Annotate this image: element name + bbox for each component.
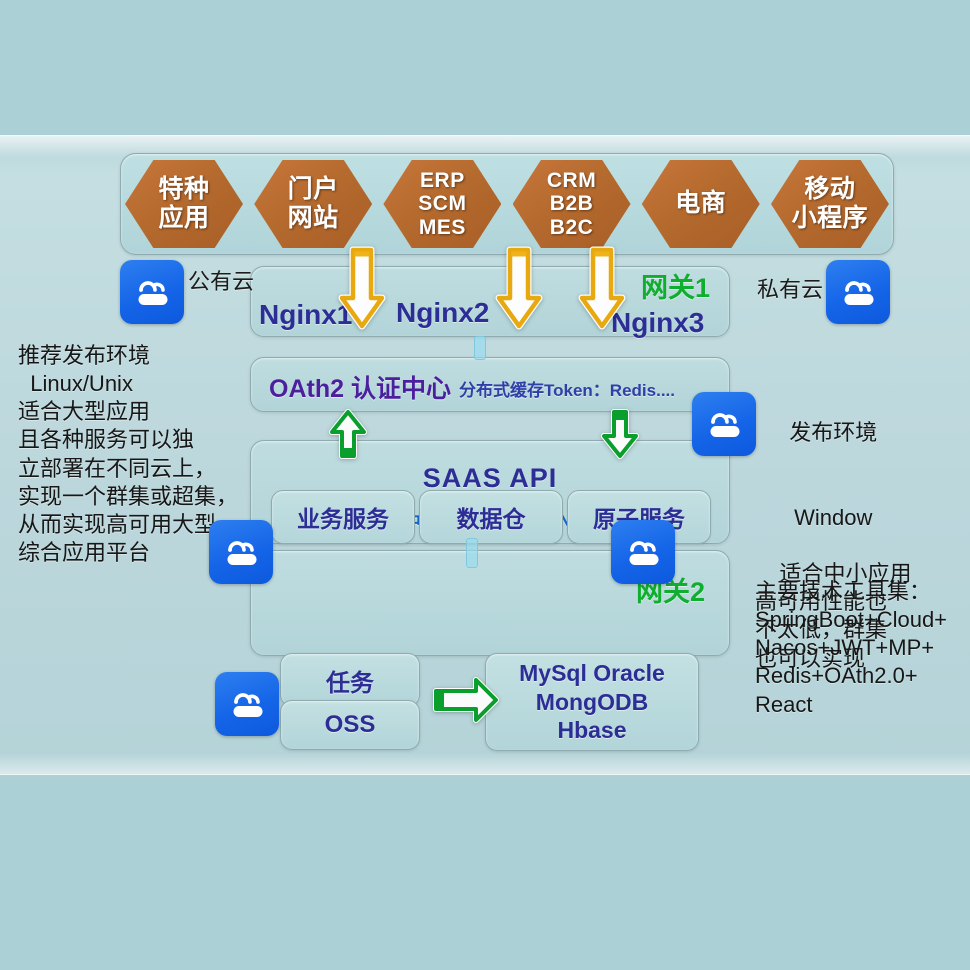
app-hexagon-portal[interactable]: 门户网站 [254, 160, 372, 248]
note-tools: 主要技术工具集： SpringBoot+Cloud+ Nacos+JWT+MP+… [755, 578, 947, 719]
cloud-badge-storage-left[interactable] [215, 672, 279, 736]
task-box[interactable]: 任务 [280, 653, 420, 707]
cloud-icon [225, 687, 269, 721]
connector-gateway-auth [474, 336, 486, 360]
arrow-down-app-to-gateway-1 [338, 246, 386, 332]
cloud-icon [219, 535, 263, 569]
cloud-badge-private-right[interactable] [826, 260, 890, 324]
oauth-subtitle: 分布式缓存Token：Redis.... [459, 376, 675, 401]
cloud-icon [836, 275, 880, 309]
app-hexagon-mobile[interactable]: 移动小程序 [771, 160, 889, 248]
app-hexagon-label: B2B [550, 192, 594, 215]
cloud-badge-gateway2[interactable] [611, 520, 675, 584]
cloud-icon [702, 407, 746, 441]
database-box[interactable]: MySql Oracle MongODB Hbase [485, 653, 699, 751]
oauth-title: OAth2 认证中心 [269, 369, 451, 405]
arrow-up-saas-to-auth [328, 408, 368, 460]
note-right-head2: Window [755, 504, 911, 532]
app-hexagon-label: 小程序 [792, 205, 869, 233]
note-right-head1: 发布环境 [755, 419, 911, 447]
app-hexagon-label: CRM [547, 169, 596, 192]
app-hexagon-label: 网站 [288, 205, 339, 233]
panel-gloss-bottom [0, 753, 970, 775]
diagram-canvas: 特种应用门户网站ERPSCMMESCRMB2BB2C电商移动小程序 公有云 私有… [0, 0, 970, 970]
cloud-badge-auth-right[interactable] [692, 392, 756, 456]
db-line-2: MongODB [536, 688, 648, 717]
nginx2-label: Nginx2 [396, 297, 489, 329]
app-hexagon-label: 移动 [804, 176, 855, 204]
gateway-layer-panel: Nginx1 Nginx2 Nginx3 网关1 [250, 266, 730, 337]
gateway1-label: 网关1 [641, 266, 710, 305]
app-hexagon-label: SCM [418, 192, 466, 215]
cloud-badge-public-left[interactable] [120, 260, 184, 324]
arrow-down-app-to-gateway-2 [495, 246, 543, 332]
app-hexagon-erp[interactable]: ERPSCMMES [383, 160, 501, 248]
public-cloud-label: 公有云 [188, 264, 254, 296]
app-hexagon-crm[interactable]: CRMB2BB2C [513, 160, 631, 248]
app-hexagon-label: 应用 [158, 205, 209, 233]
app-hexagon-ecommerce[interactable]: 电商 [642, 160, 760, 248]
application-layer-panel: 特种应用门户网站ERPSCMMESCRMB2BB2C电商移动小程序 [120, 153, 894, 255]
app-hexagon-label: MES [419, 216, 466, 239]
cloud-icon [130, 275, 174, 309]
cloud-badge-saas-left[interactable] [209, 520, 273, 584]
auth-layer-panel: OAth2 认证中心 分布式缓存Token：Redis.... [250, 357, 730, 412]
db-line-1: MySql Oracle [519, 659, 665, 688]
arrow-down-auth-to-saas [600, 408, 640, 460]
db-line-3: Hbase [557, 716, 626, 745]
app-hexagon-label: 电商 [675, 190, 726, 218]
cloud-icon [621, 535, 665, 569]
private-cloud-label: 私有云 [757, 272, 823, 304]
app-hexagon-label: B2C [550, 216, 594, 239]
service-box-data-warehouse[interactable]: 数据仓 [419, 490, 563, 544]
application-hexagon-row: 特种应用门户网站ERPSCMMESCRMB2BB2C电商移动小程序 [121, 154, 893, 254]
service-box-business[interactable]: 业务服务 [271, 490, 415, 544]
arrow-down-app-to-gateway-3 [578, 246, 626, 332]
oss-box[interactable]: OSS [280, 700, 420, 750]
note-left: 推荐发布环境 Linux/Unix 适合大型应用 且各种服务可以独 立部署在不同… [18, 342, 238, 567]
app-hexagon-label: 门户 [288, 176, 339, 204]
app-hexagon-label: 特种 [158, 176, 209, 204]
app-hexagon-special-app[interactable]: 特种应用 [125, 160, 243, 248]
connector-saas-services [466, 538, 478, 568]
app-hexagon-label: ERP [420, 169, 465, 192]
arrow-right-task-to-db [432, 673, 500, 727]
